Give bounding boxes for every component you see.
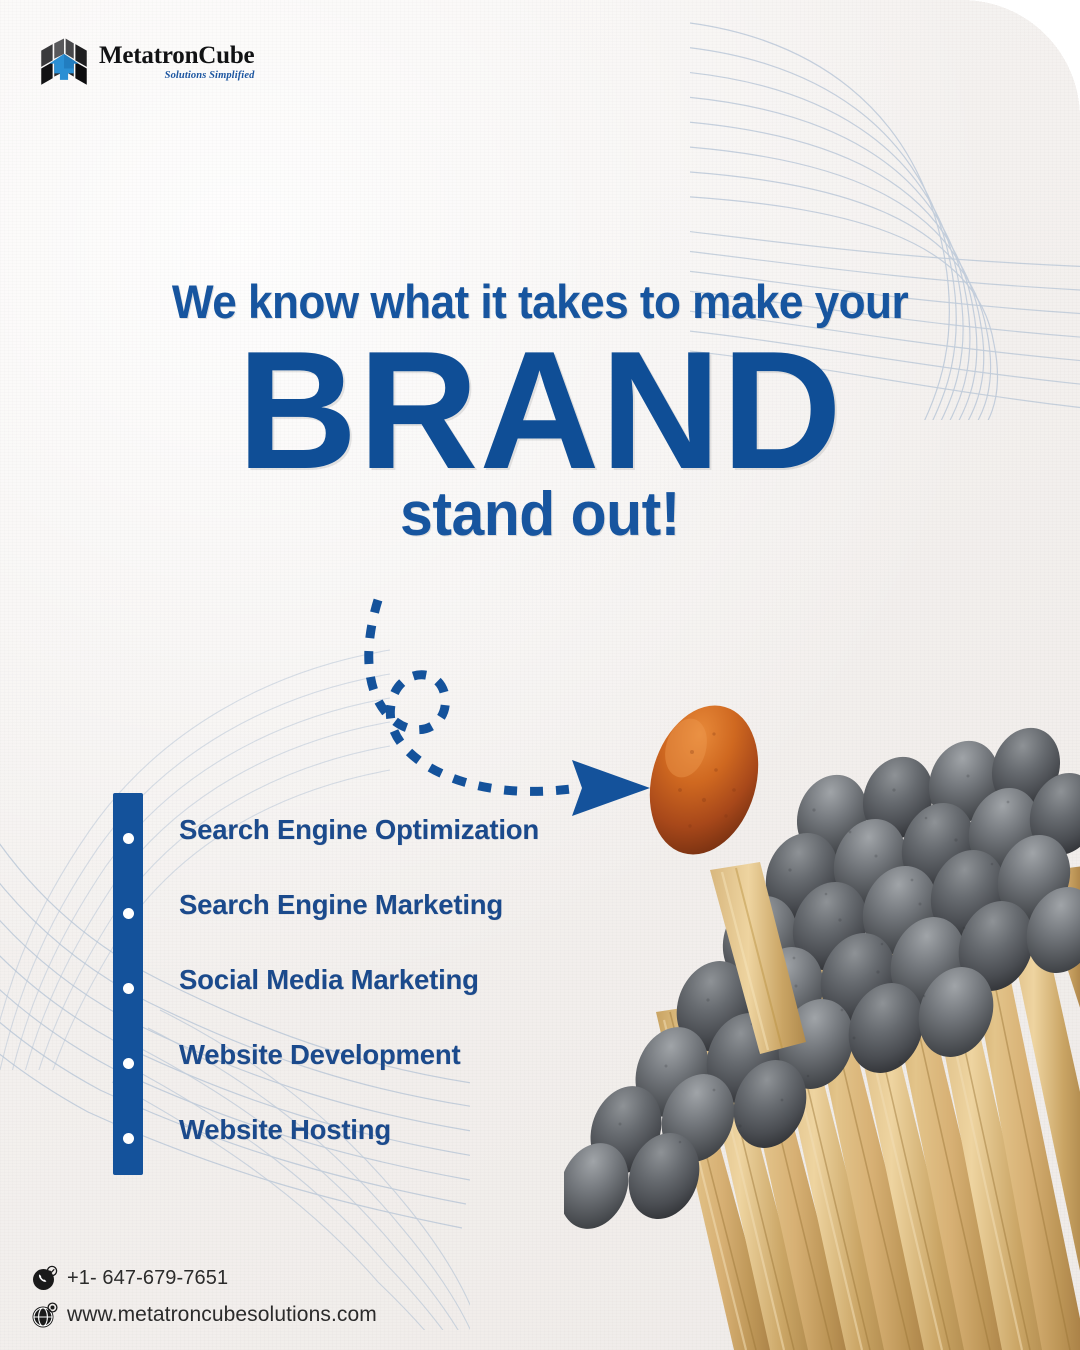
contact-website-row[interactable]: www.metatroncubesolutions.com — [32, 1302, 377, 1328]
bullet-dot — [123, 908, 134, 919]
bullet-dot — [123, 1133, 134, 1144]
phone-number: +1- 647-679-7651 — [67, 1267, 228, 1290]
logo-tagline: Solutions Simplified — [99, 71, 254, 82]
headline-word-brand: BRAND — [5, 332, 1074, 488]
list-item[interactable]: Website Hosting — [179, 1119, 539, 1194]
globe-web-icon — [32, 1302, 58, 1328]
logo-wordmark: MetatronCube Solutions Simplified — [99, 43, 254, 82]
bullet-dot — [123, 833, 134, 844]
list-item[interactable]: Website Development — [179, 1044, 539, 1119]
headline-line-3: stand out! — [27, 484, 1053, 546]
list-item[interactable]: Search Engine Optimization — [179, 819, 539, 894]
brand-logo[interactable]: MetatronCube Solutions Simplified — [38, 36, 254, 88]
logo-name: MetatronCube — [99, 43, 254, 68]
list-item[interactable]: Social Media Marketing — [179, 969, 539, 1044]
phone-call-icon — [32, 1265, 58, 1291]
contact-phone-row[interactable]: +1- 647-679-7651 — [32, 1265, 377, 1291]
headline-block: We know what it takes to make your BRAND… — [0, 278, 1080, 546]
corner-mask-top-right — [962, 0, 1080, 118]
cube-logo-icon — [38, 36, 90, 88]
bullet-dot — [123, 983, 134, 994]
contact-block: +1- 647-679-7651 www.metatroncubesolutio… — [32, 1265, 377, 1328]
services-block: Search Engine Optimization Search Engine… — [113, 793, 539, 1194]
services-accent-bar — [113, 793, 143, 1175]
services-list: Search Engine Optimization Search Engine… — [179, 793, 539, 1194]
poster-canvas: MetatronCube Solutions Simplified We kno… — [0, 0, 1080, 1350]
matchsticks-photo — [564, 690, 1080, 1350]
list-item[interactable]: Search Engine Marketing — [179, 894, 539, 969]
bullet-dot — [123, 1058, 134, 1069]
website-url: www.metatroncubesolutions.com — [67, 1303, 377, 1327]
